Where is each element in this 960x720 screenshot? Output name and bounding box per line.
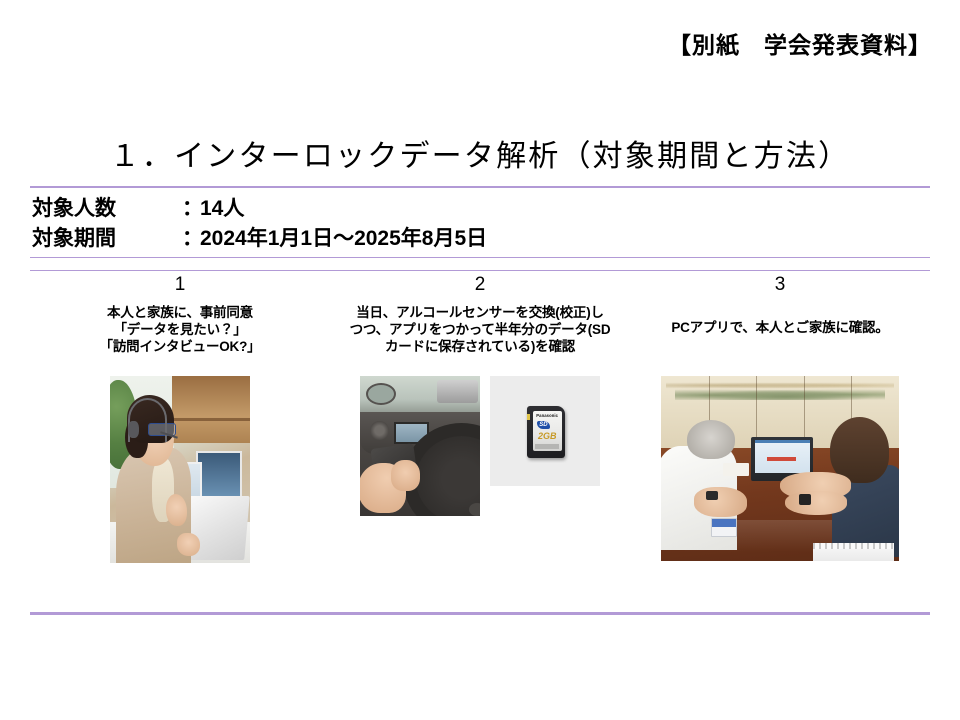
step-1-description: 本人と家族に、事前同意「データを見たい？」「訪問インタビューOK?」 [60,304,300,355]
paper-on-table [723,463,749,476]
step-3-photo-area [630,376,930,586]
step-2-photo-area: Panasonic SD 2GB [330,376,630,586]
info-label-participants: 対象人数 [32,194,182,224]
sd-logo-icon: SD [537,421,550,429]
man-watch [706,491,718,500]
laptop-app-titlebar [755,440,811,444]
step-2: 2 当日、アルコールセンサーを交換(校正)しつつ、アプリをつかって半年分のデータ… [330,272,630,602]
divider-above-steps [30,270,930,271]
interview-at-table-photo [661,376,899,561]
hand-upper [391,460,420,491]
step-1: 1 本人と家族に、事前同意「データを見たい？」「訪問インタビューOK?」 [30,272,330,602]
step-1-photo-area [30,376,330,586]
laptop-screen [755,440,811,474]
notebook-on-table [813,543,894,562]
step-3-number: 3 [775,273,786,297]
info-colon-period: ： [182,224,200,254]
step-2-number: 2 [475,273,486,297]
steering-wheel-logo [469,503,480,516]
info-label-period: 対象期間 [32,224,182,254]
step-2-description: 当日、アルコールセンサーを交換(校正)しつつ、アプリをつかって半年分のデータ(S… [344,304,616,355]
sd-card-photo: Panasonic SD 2GB [490,376,600,486]
sd-card: Panasonic SD 2GB [527,406,564,459]
screen-painting-trees [675,388,884,400]
woman-arm-lower [785,491,847,515]
sd-card-brand: Panasonic [533,413,562,418]
laptop-app-highlight [767,457,796,460]
study-info-block: 対象人数 ： 14人 対象期間 ： 2024年1月1日～2025年8月5日 [32,194,912,254]
info-row-participants: 対象人数 ： 14人 [32,194,912,224]
desktop-monitor-right [196,451,242,500]
headset-earcup [128,421,139,438]
wood-cabinet [172,376,250,443]
man-arm [694,487,746,517]
info-value-period: 2024年1月1日～2025年8月5日 [200,224,487,254]
air-vent-left [370,421,389,441]
notebook-spiral [813,543,894,549]
car-outside [437,380,478,402]
divider-above-info [30,186,930,188]
operator-headset-laptop-photo [110,376,250,563]
method-steps: 1 本人と家族に、事前同意「データを見たい？」「訪問インタビューOK?」 [30,272,930,602]
step-1-number: 1 [175,273,186,297]
divider-below-info [30,257,930,258]
person-hand-raised [166,494,187,526]
car-interlock-device-photo [360,376,480,516]
id-card-on-table [711,518,737,537]
handout-annotation: 【別紙 学会発表資料】 [668,26,932,60]
page-title: １．インターロックデータ解析（対象期間と方法） [0,131,960,175]
sd-card-write-area [535,444,559,449]
step-3: 3 PCアプリで、本人とご家族に確認。 [630,272,930,602]
sd-card-label: Panasonic SD 2GB [533,411,562,451]
man-head [687,420,735,459]
step-3-description: PCアプリで、本人とご家族に確認。 [655,319,905,336]
sd-card-capacity: 2GB [533,431,562,441]
info-colon-participants: ： [182,194,200,224]
divider-bottom [30,612,930,615]
person-hand-typing [177,533,199,555]
id-card-header [712,519,736,527]
info-row-period: 対象期間 ： 2024年1月1日～2025年8月5日 [32,224,912,254]
woman-watch [799,494,811,505]
info-value-participants: 14人 [200,194,244,224]
sd-card-notch [527,414,530,420]
